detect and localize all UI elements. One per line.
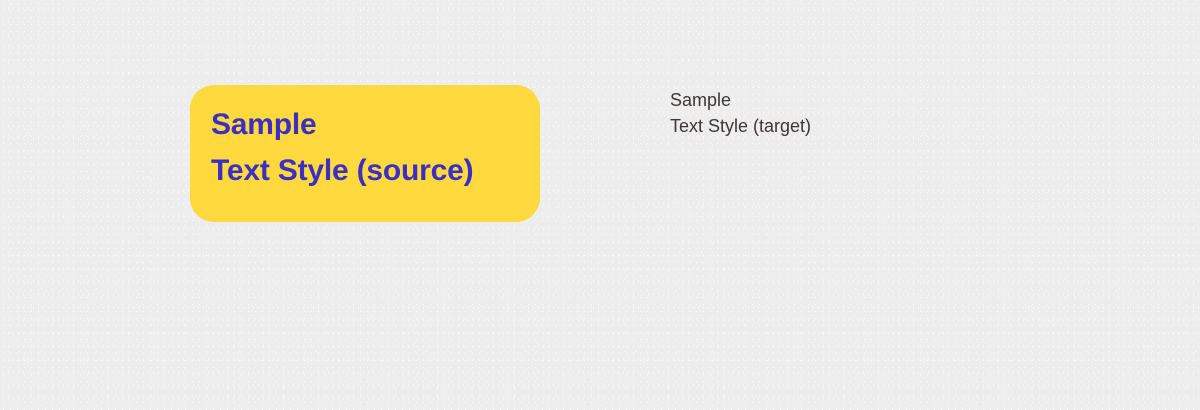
target-style-text[interactable]: Sample Text Style (target) (670, 87, 930, 139)
target-text-line-1: Sample (670, 87, 930, 113)
source-style-card[interactable]: Sample Text Style (source) (190, 85, 540, 222)
target-text-line-2: Text Style (target) (670, 113, 930, 139)
canvas-texture-overlay (0, 0, 1200, 410)
source-text-line-1: Sample (211, 102, 540, 148)
source-text-line-2: Text Style (source) (211, 148, 540, 194)
canvas-stage: Sample Text Style (source) Sample Text S… (0, 0, 1200, 410)
